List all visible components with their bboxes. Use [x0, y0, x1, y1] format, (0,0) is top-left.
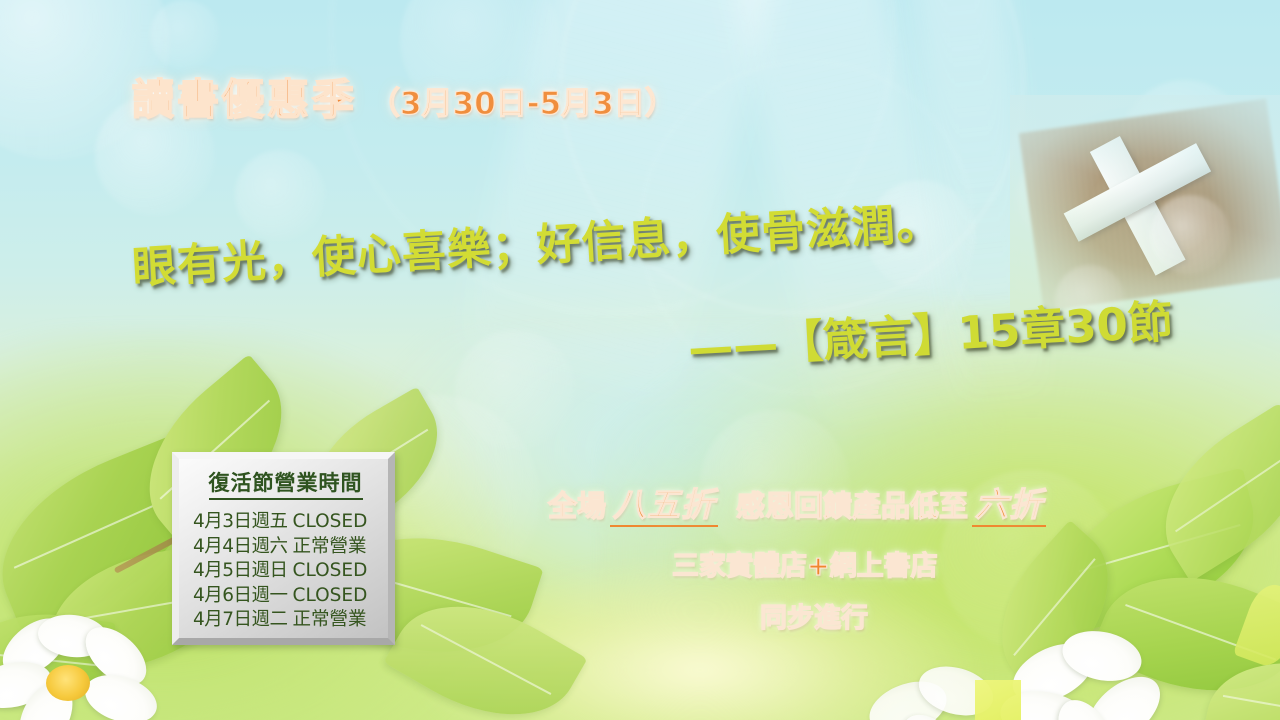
flower-center	[46, 665, 90, 701]
hours-row: 4月6日週一CLOSED	[189, 584, 378, 609]
hours-row-date: 4月5日週日	[193, 560, 288, 581]
promo-middle: 感恩回饋產品低至	[736, 489, 968, 523]
bokeh-circle	[1150, 195, 1230, 275]
promo-stores-line: 三家實體店+網上書店	[672, 544, 938, 583]
bokeh-circle	[455, 330, 575, 450]
promo-prefix: 全場	[548, 489, 606, 523]
campaign-title: 讀書優惠季	[132, 66, 357, 127]
promo-discount-line: 全場八五折感恩回饋產品低至六折	[548, 478, 1050, 526]
hours-row-status: CLOSED	[293, 560, 368, 581]
hours-row-status: CLOSED	[293, 511, 368, 532]
leaf-decoration	[975, 680, 1021, 720]
hours-row-status: 正常營業	[293, 536, 367, 557]
campaign-dates: （3月30日-5月3日）	[369, 78, 676, 123]
promo-discount-primary: 八五折	[610, 485, 718, 527]
hours-row: 4月7日週二正常營業	[189, 608, 378, 633]
hours-row-date: 4月3日週五	[193, 511, 288, 532]
bokeh-circle	[150, 0, 220, 70]
hours-row-date: 4月6日週一	[193, 585, 288, 606]
hours-row: 4月3日週五CLOSED	[189, 510, 378, 535]
white-flower-decoration	[1000, 630, 1200, 720]
easter-hours-box: 復活節營業時間 4月3日週五CLOSED 4月4日週六正常營業 4月5日週日CL…	[172, 452, 395, 645]
hours-list: 4月3日週五CLOSED 4月4日週六正常營業 4月5日週日CLOSED 4月6…	[187, 510, 380, 633]
campaign-title-row: 讀書優惠季 （3月30日-5月3日）	[132, 66, 676, 127]
hours-row-date: 4月4日週六	[193, 536, 288, 557]
hours-row-date: 4月7日週二	[193, 609, 288, 630]
hours-title-wrapper: 復活節營業時間	[187, 465, 380, 500]
hours-row-status: 正常營業	[293, 609, 367, 630]
hours-row-status: CLOSED	[293, 585, 368, 606]
easter-promo-poster: 讀書優惠季 （3月30日-5月3日） 眼有光，使心喜樂；好信息，使骨滋潤。 ——…	[0, 0, 1280, 720]
promo-sync-line: 同步進行	[760, 596, 868, 635]
white-flower-decoration	[0, 615, 170, 720]
promo-discount-secondary: 六折	[972, 485, 1046, 527]
hours-row: 4月4日週六正常營業	[189, 535, 378, 560]
hours-box-title: 復活節營業時間	[209, 467, 363, 500]
hours-row: 4月5日週日CLOSED	[189, 559, 378, 584]
